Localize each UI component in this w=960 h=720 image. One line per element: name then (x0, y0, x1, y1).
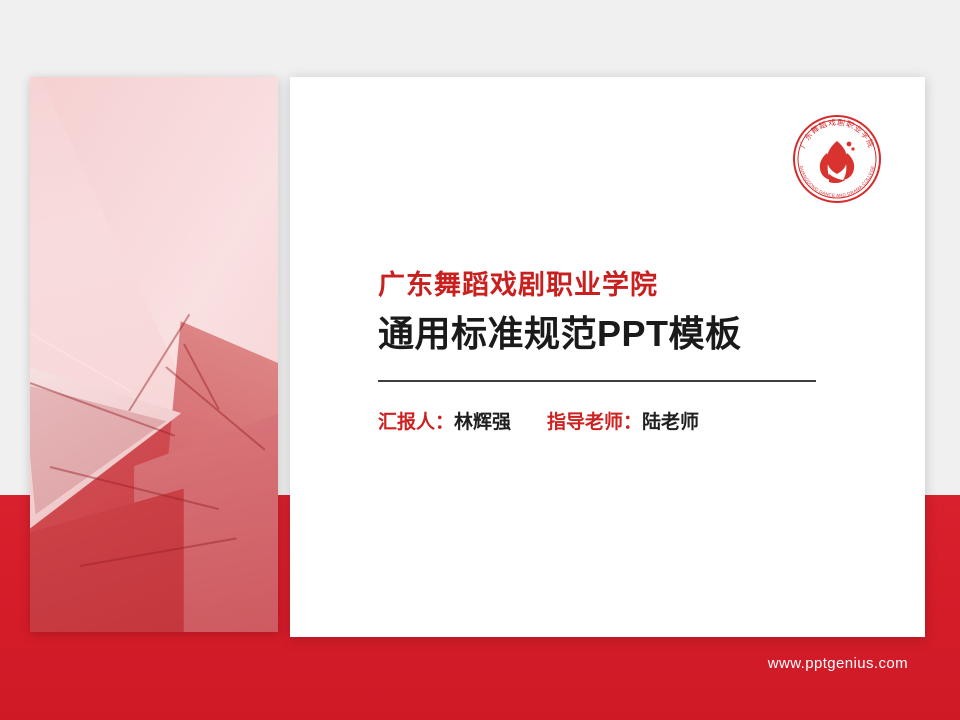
content-card: 广东舞蹈戏剧职业学院 GUANGDONG DANCE AND DRAMA COL… (290, 77, 925, 637)
cover-photo-card (30, 77, 278, 632)
credit-presenter: 汇报人： 林辉强 (378, 407, 511, 434)
title-divider (378, 380, 816, 382)
university-seal-icon: 广东舞蹈戏剧职业学院 GUANGDONG DANCE AND DRAMA COL… (787, 109, 887, 209)
credit-advisor-value: 陆老师 (642, 407, 699, 434)
credit-presenter-value: 林辉强 (454, 407, 511, 434)
presentation-slide: 广东舞蹈戏剧职业学院 GUANGDONG DANCE AND DRAMA COL… (0, 0, 960, 720)
cover-photo-image (30, 77, 278, 632)
school-name: 广东舞蹈戏剧职业学院 (378, 269, 848, 303)
credits-row: 汇报人： 林辉强 指导老师： 陆老师 (378, 407, 848, 434)
title-block: 广东舞蹈戏剧职业学院 通用标准规范PPT模板 汇报人： 林辉强 指导老师： 陆老… (378, 269, 848, 434)
page-title: 通用标准规范PPT模板 (378, 311, 848, 358)
footer-url[interactable]: www.pptgenius.com (768, 655, 908, 672)
credit-advisor: 指导老师： 陆老师 (547, 407, 699, 434)
credit-advisor-label: 指导老师： (547, 407, 642, 434)
credit-presenter-label: 汇报人： (378, 407, 454, 434)
